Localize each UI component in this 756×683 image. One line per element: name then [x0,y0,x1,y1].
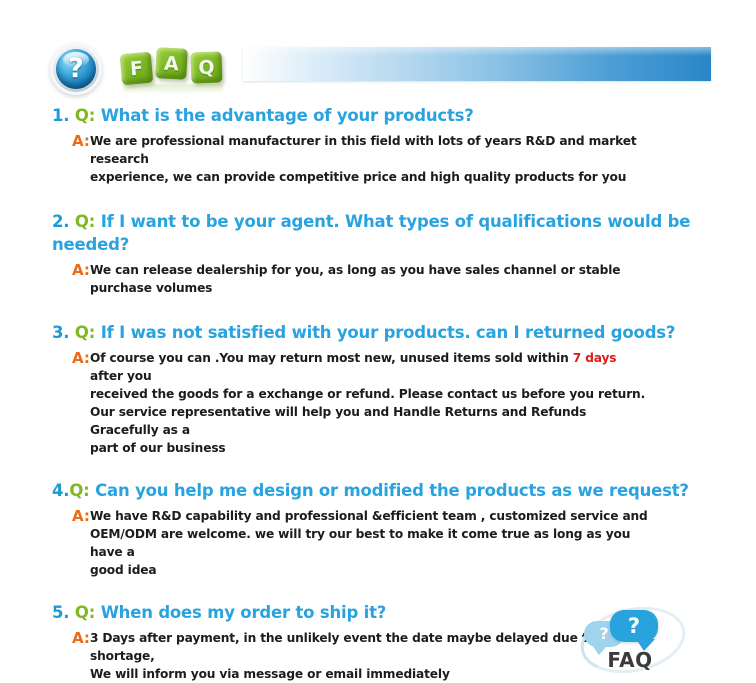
faq-answer-text-1: We are professional manufacturer in this… [72,132,650,186]
faq-question-2: 2. Q: If I want to be your agent. What t… [0,210,756,256]
faq-answer-2: A: We can release dealership for you, as… [0,261,756,297]
faq-footer-logo: ? ? FAQ [576,606,684,672]
faq-q-label-1: Q: [75,106,95,125]
faq-q-label-2: Q: [75,212,95,231]
faq-item-4: 4.Q: Can you help me design or modified … [0,479,756,579]
answer-line: We will inform you via message or email … [90,665,650,683]
faq-number-4: 4. [52,481,69,500]
faq-number-2: 2. [52,212,69,231]
faq-a-label-1: A: [72,132,90,150]
spacer [0,297,756,321]
faq-answer-text-5: 3 Days after payment, in the unlikely ev… [72,629,650,683]
faq-answer-3: A: Of course you can .You may return mos… [0,349,756,457]
faq-q-label-3: Q: [75,323,95,342]
answer-line: Our service representative will help you… [90,403,650,439]
answer-line: We have R&D capability and professional … [90,507,650,525]
faq-number-1: 1. [52,106,69,125]
faq-a-label-5: A: [72,629,90,647]
faq-cubes-logo: F A Q [121,44,225,92]
answer-line: OEM/ODM are welcome. we will try our bes… [90,525,650,561]
faq-q-label-4: Q: [69,481,89,500]
faq-question-text-5: When does my order to ship it? [101,603,386,622]
question-mark-globe-icon: ? [50,43,102,95]
faq-answer-4: A: We have R&D capability and profession… [0,507,756,579]
cube-letter-f: F [120,52,154,86]
faq-question-text-2: If I want to be your agent. What types o… [52,212,690,254]
answer-line-part: Of course you can .You may return most n… [90,351,573,365]
answer-line: part of our business [90,439,650,457]
faq-q-label-5: Q: [75,603,95,622]
answer-line: experience, we can provide competitive p… [90,168,650,186]
answer-line: Of course you can .You may return most n… [90,349,650,385]
faq-answer-text-4: We have R&D capability and professional … [72,507,650,579]
answer-line: good idea [90,561,650,579]
faq-answer-text-2: We can release dealership for you, as lo… [72,261,650,297]
cube-letter-q: Q [190,51,222,83]
faq-item-3: 3. Q: If I was not satisfied with your p… [0,321,756,457]
spacer [0,579,756,601]
faq-question-4: 4.Q: Can you help me design or modified … [0,479,756,502]
faq-question-text-3: If I was not satisfied with your product… [101,323,676,342]
gradient-bar-sheen [243,47,711,56]
faq-question-1: 1. Q: What is the advantage of your prod… [0,104,756,127]
faq-question-3: 3. Q: If I was not satisfied with your p… [0,321,756,344]
faq-a-label-4: A: [72,507,90,525]
faq-question-text-1: What is the advantage of your products? [101,106,474,125]
answer-highlight: 7 days [573,351,617,365]
faq-number-5: 5. [52,603,69,622]
answer-line: 3 Days after payment, in the unlikely ev… [90,629,650,665]
cube-letter-a: A [155,47,188,80]
speech-bubble-front-icon: ? [610,610,658,642]
faq-a-label-2: A: [72,261,90,279]
answer-line: We are professional manufacturer in this… [90,132,650,168]
answer-line: We can release dealership for you, as lo… [90,261,650,279]
faq-list: 1. Q: What is the advantage of your prod… [0,104,756,683]
header-gradient-bar [243,47,711,81]
spacer [0,457,756,479]
faq-number-3: 3. [52,323,69,342]
faq-a-label-3: A: [72,349,90,367]
globe-question-glyph: ? [56,49,96,89]
page-header: ? F A Q [0,0,756,100]
faq-question-text-4: Can you help me design or modified the p… [95,481,689,500]
globe-ball: ? [56,49,96,89]
faq-answer-1: A: We are professional manufacturer in t… [0,132,756,186]
faq-item-1: 1. Q: What is the advantage of your prod… [0,104,756,186]
spacer [0,186,756,210]
answer-line-part: after you [90,369,152,383]
faq-answer-text-3: Of course you can .You may return most n… [72,349,650,457]
answer-line: purchase volumes [90,279,650,297]
faq-logo-text: FAQ [576,648,684,672]
faq-item-2: 2. Q: If I want to be your agent. What t… [0,210,756,297]
cubes-reflection [123,84,223,94]
answer-line: received the goods for a exchange or ref… [90,385,650,403]
